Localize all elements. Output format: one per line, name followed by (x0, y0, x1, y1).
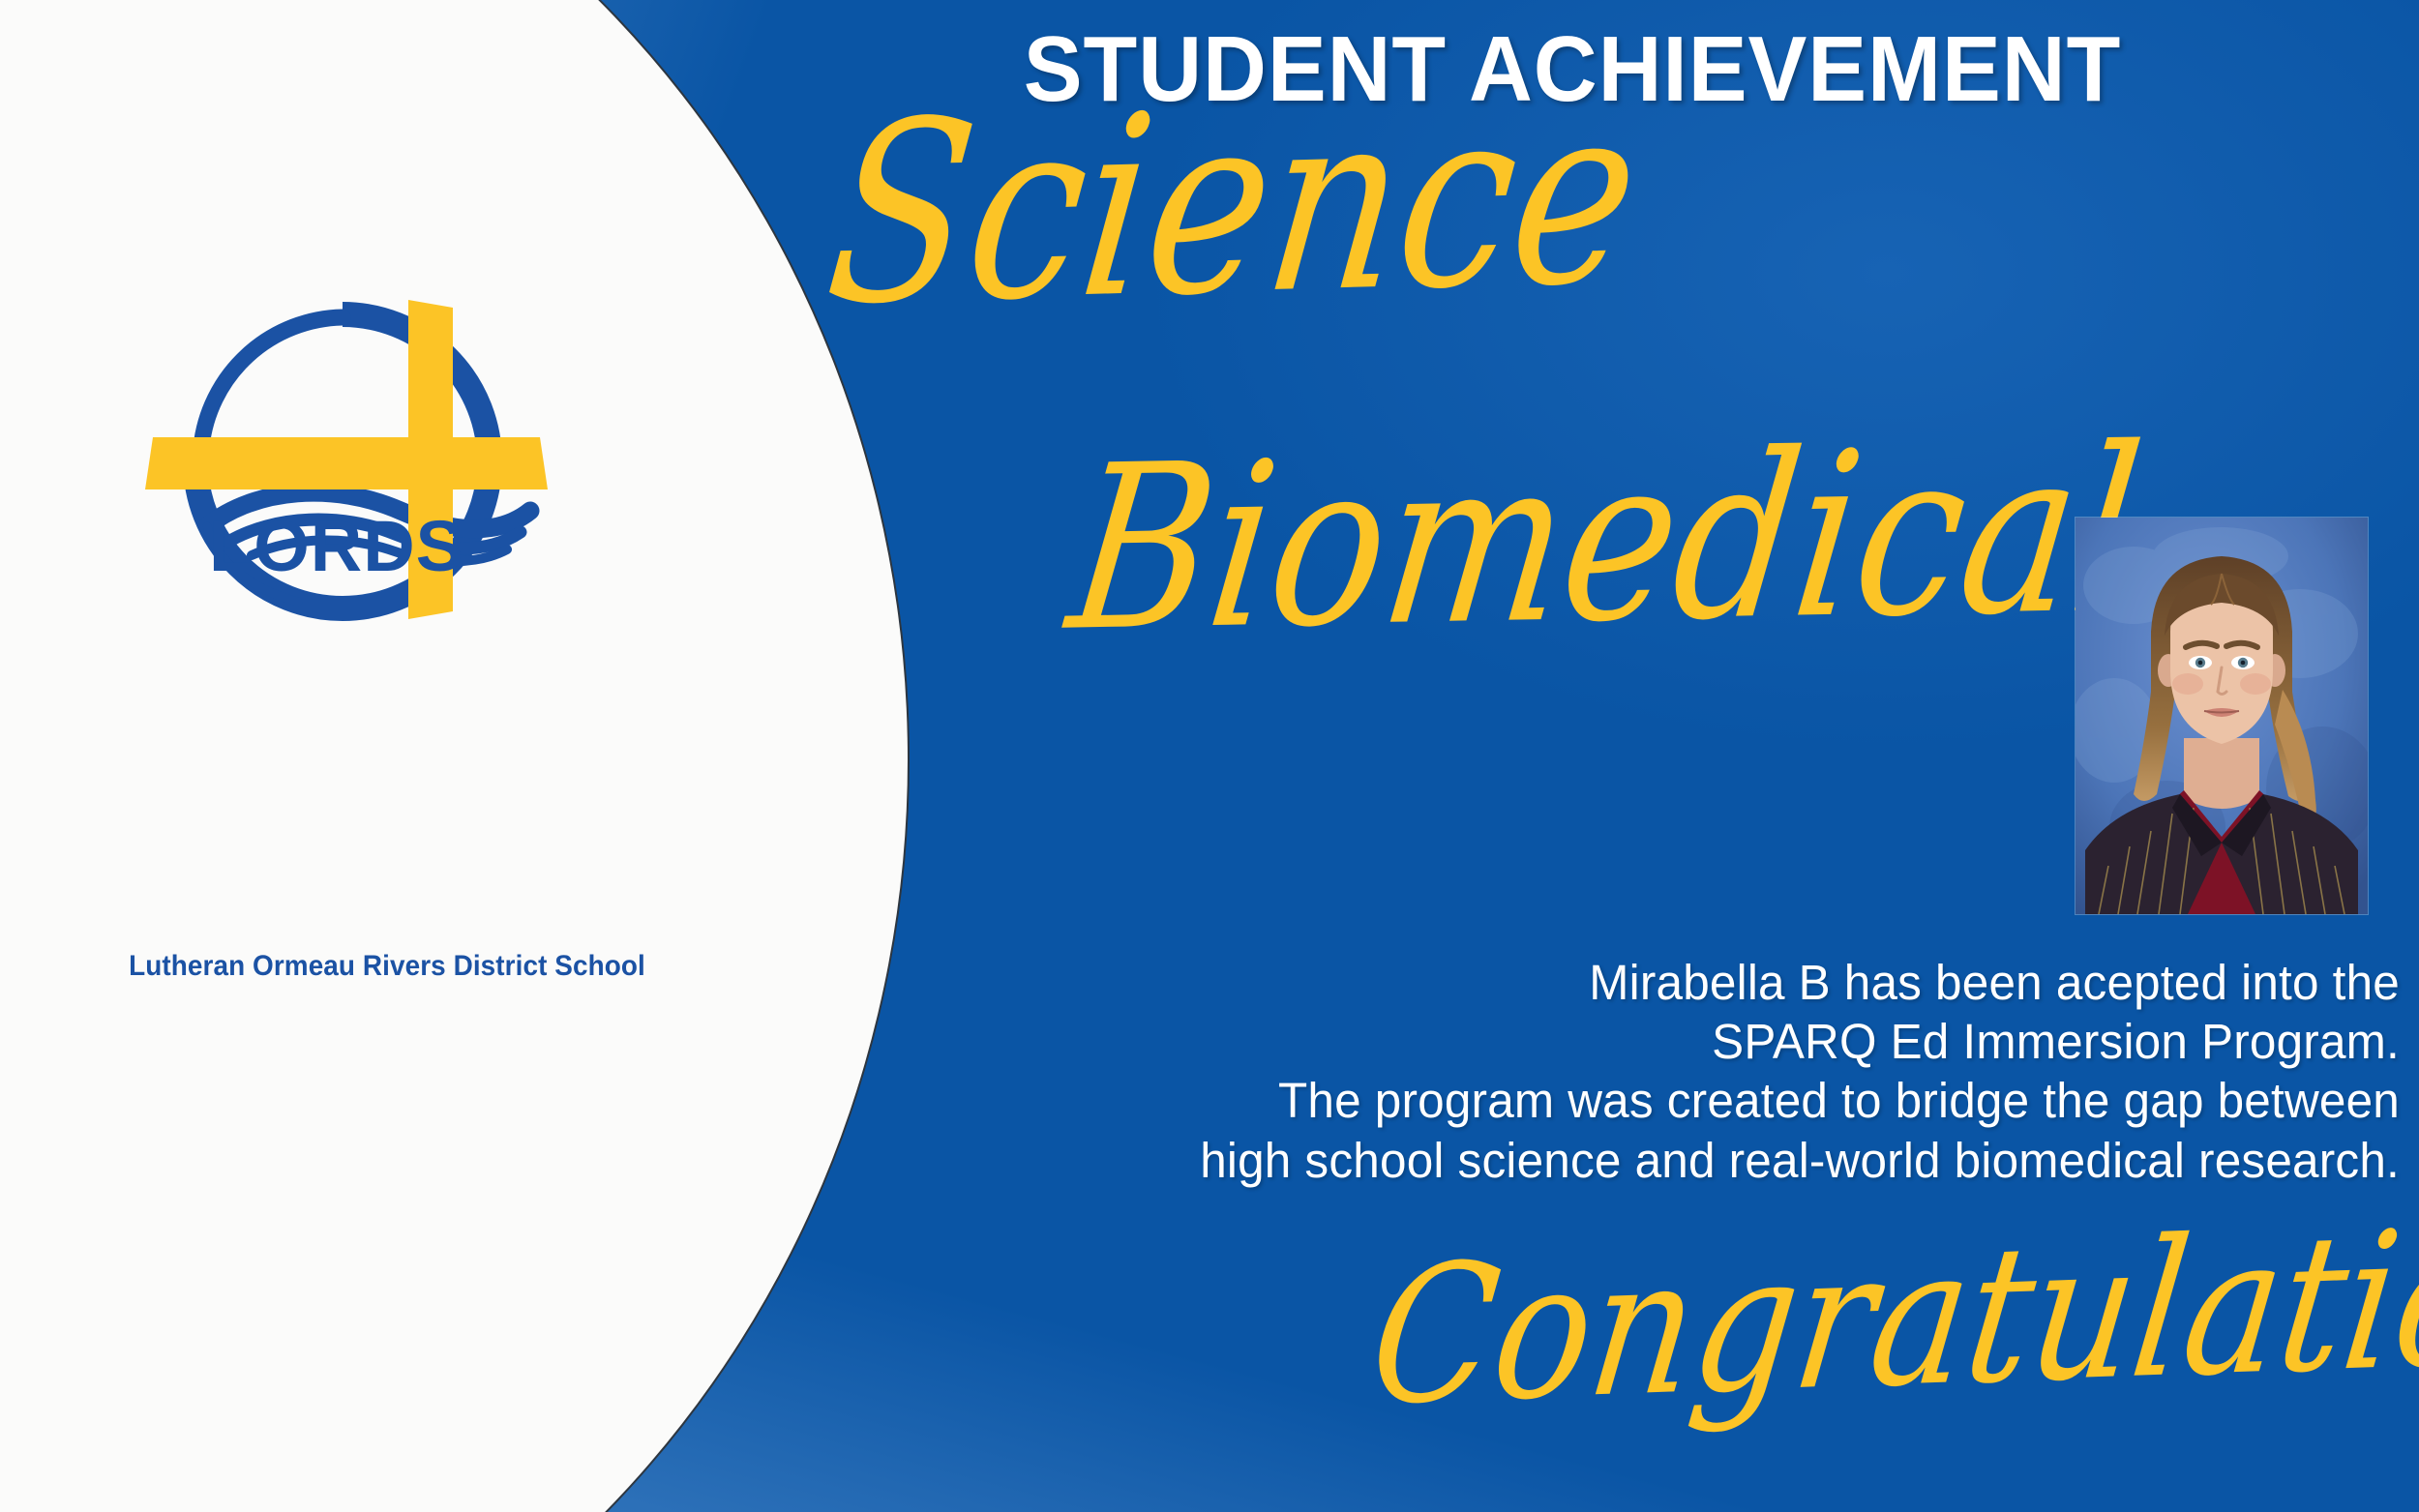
logo-caption: Lutheran Ormeau Rivers District School (81, 950, 693, 983)
achievement-description: Mirabella B has been acepted into the SP… (851, 953, 2401, 1190)
description-line-1: Mirabella B has been acepted into the (851, 953, 2401, 1012)
description-line-4: high school science and real-world biome… (851, 1131, 2401, 1190)
subject-script-line-1: Science (818, 71, 1649, 341)
student-achievement-poster: LORDS Lutheran Ormeau Rivers District Sc… (0, 0, 2419, 1512)
description-line-2: SPARQ Ed Immersion Program. (851, 1012, 2401, 1071)
description-line-3: The program was created to bridge the ga… (851, 1071, 2401, 1130)
school-logo: LORDS (93, 282, 635, 640)
logo-wordmark: LORDS (209, 506, 464, 586)
congratulations-script: Congratulations ! (1362, 1193, 2419, 1432)
student-portrait-photo (2076, 518, 2368, 914)
subject-script-line-2: Biomedical (1060, 417, 2151, 663)
